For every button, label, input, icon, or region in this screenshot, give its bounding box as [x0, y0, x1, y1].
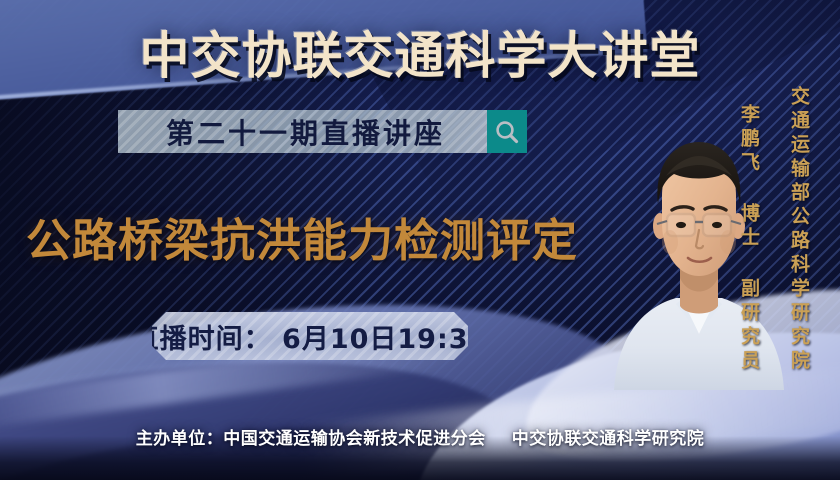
organizer-name-2: 中交协联交通科学研究院 — [512, 429, 705, 449]
organizer-name-1: 中国交通运输协会新技术促进分会 — [223, 429, 486, 449]
lecture-title: 公路桥梁抗洪能力检测评定 — [26, 204, 578, 269]
search-icon — [494, 119, 520, 145]
search-icon-button[interactable] — [487, 110, 527, 153]
live-time-badge: 直播时间： 6月10日19:30 — [152, 312, 468, 360]
subtitle-text: 第二十一期直播讲座 — [118, 112, 487, 152]
poster-canvas: 李鹏飞 博士 副研究员 交通运输部公路科学研究院 中交协联交通科学大讲堂 第二十… — [0, 0, 840, 480]
subtitle-bar: 第二十一期直播讲座 — [118, 110, 527, 153]
subtitle-bar-fill: 第二十一期直播讲座 — [118, 110, 487, 153]
speaker-portrait — [604, 118, 794, 390]
organizer-label: 主办单位： — [136, 429, 224, 449]
speaker-name-vertical: 李鹏飞 博士 副研究员 — [736, 104, 763, 374]
page-title: 中交协联交通科学大讲堂 — [0, 16, 840, 88]
speaker-organization-vertical: 交通运输部公路科学研究院 — [786, 86, 813, 374]
live-time-text: 直播时间： 6月10日19:30 — [152, 317, 468, 356]
organizer-footer: 主办单位：中国交通运输协会新技术促进分会中交协联交通科学研究院 — [0, 424, 840, 449]
